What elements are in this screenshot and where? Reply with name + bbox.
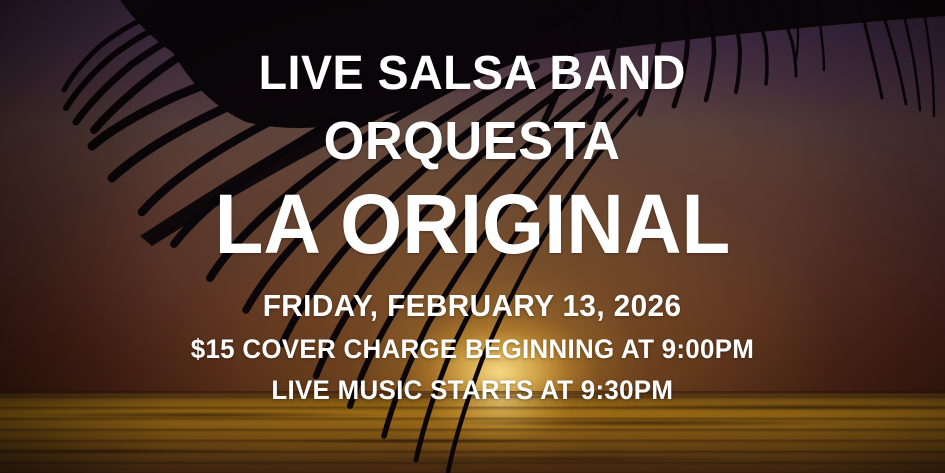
cover-charge-info: $15 COVER CHARGE BEGINNING AT 9:00PM: [191, 336, 754, 363]
music-start-time: LIVE MUSIC STARTS AT 9:30PM: [272, 377, 674, 404]
headline-live-salsa-band: LIVE SALSA BAND: [259, 50, 686, 98]
event-date: FRIDAY, FEBRUARY 13, 2026: [263, 290, 682, 321]
band-name-la-original: LA ORIGINAL: [215, 182, 731, 266]
flyer-text-block: LIVE SALSA BAND ORQUESTA LA ORIGINAL FRI…: [0, 0, 945, 473]
event-flyer: LIVE SALSA BAND ORQUESTA LA ORIGINAL FRI…: [0, 0, 945, 473]
band-type-orquesta: ORQUESTA: [324, 114, 621, 168]
